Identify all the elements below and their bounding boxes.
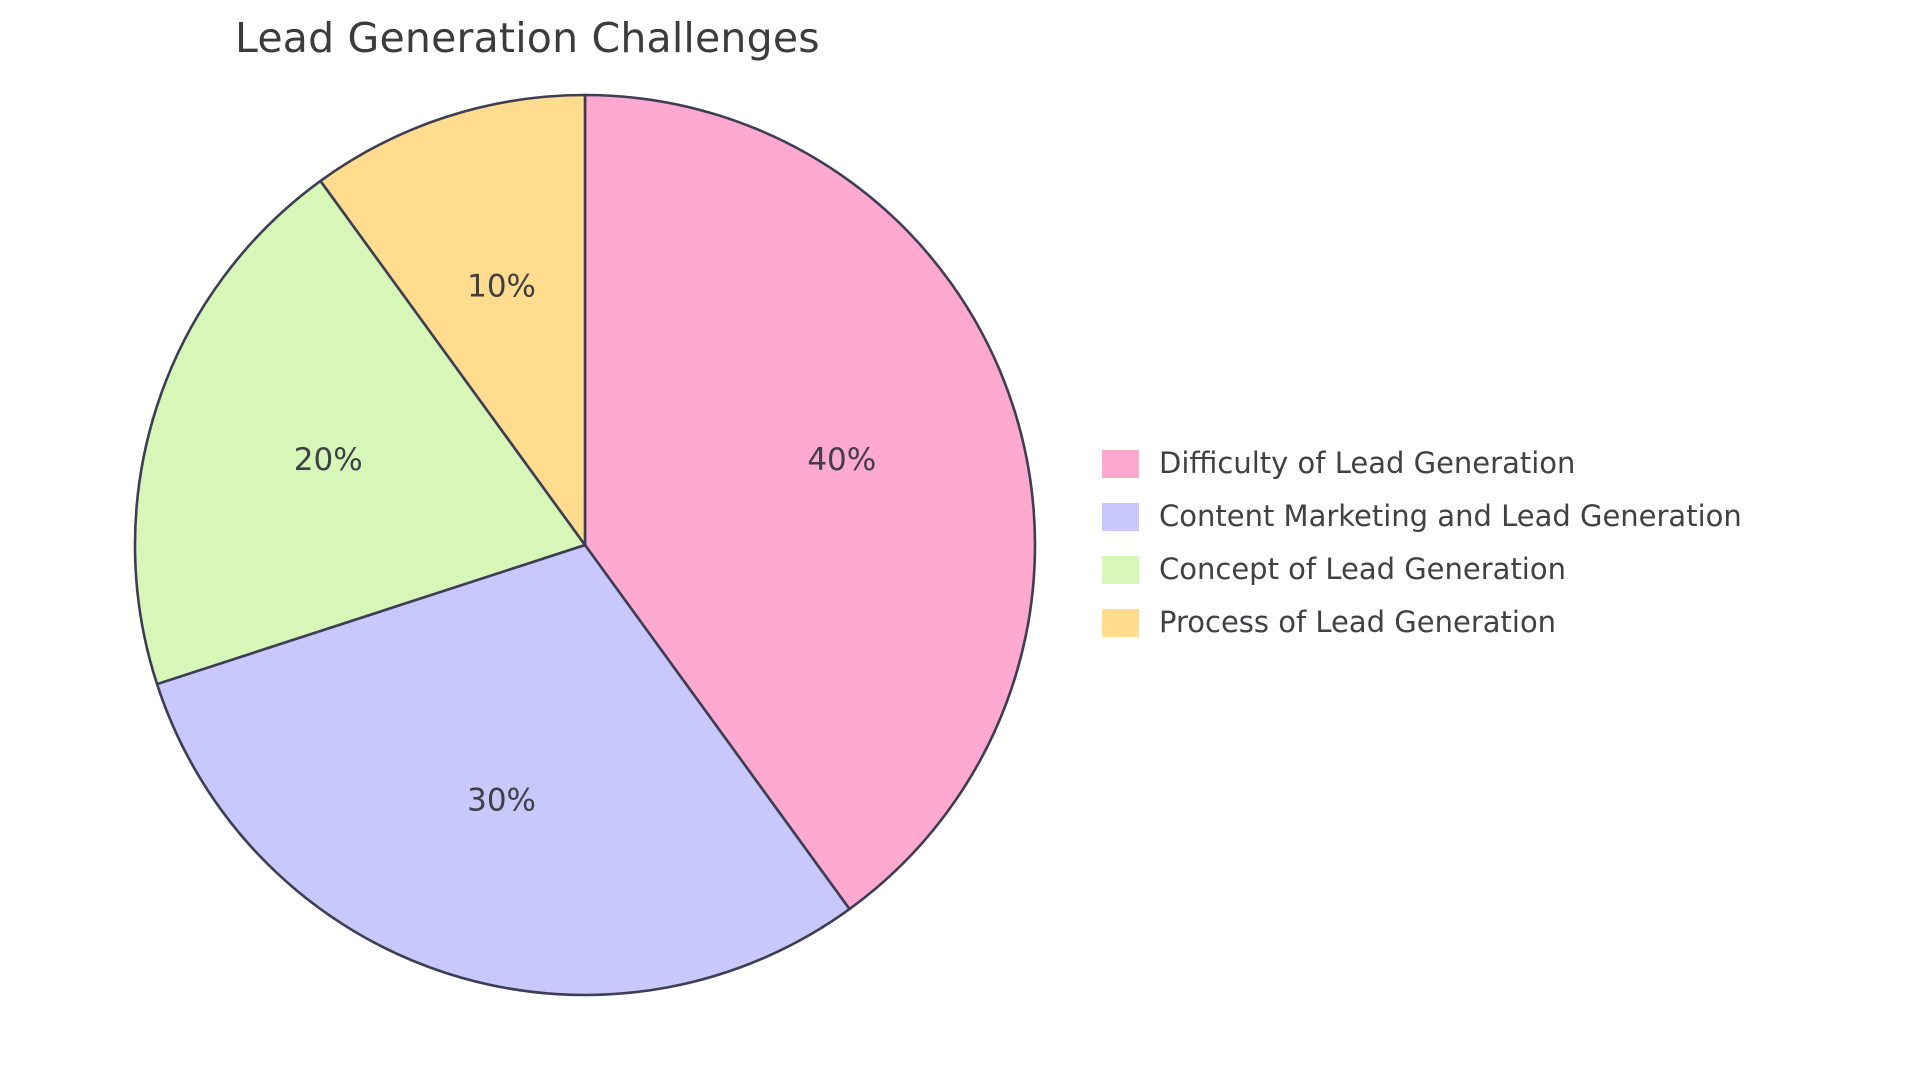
pie-slice-value-label: 40% [807,442,876,478]
legend-item[interactable]: Process of Lead Generation [1102,596,1742,649]
legend-item-label: Difficulty of Lead Generation [1159,449,1575,478]
legend-item-label: Concept of Lead Generation [1159,555,1566,584]
pie-chart-figure: Lead Generation Challenges 40%30%20%10% … [0,0,1920,1080]
pie-chart-svg: 40%30%20%10% [0,0,1200,1080]
legend-item-label: Content Marketing and Lead Generation [1159,502,1742,531]
legend-item[interactable]: Difficulty of Lead Generation [1102,437,1742,490]
legend-item[interactable]: Content Marketing and Lead Generation [1102,490,1742,543]
legend-swatch-icon [1102,609,1139,637]
chart-legend: Difficulty of Lead GenerationContent Mar… [1102,437,1742,649]
pie-slice-value-label: 10% [467,269,536,305]
pie-slice-value-label: 20% [294,442,363,478]
pie-slice-value-label: 30% [467,782,536,818]
legend-item[interactable]: Concept of Lead Generation [1102,543,1742,596]
pie-slices-group [135,95,1035,995]
legend-swatch-icon [1102,450,1139,478]
legend-item-label: Process of Lead Generation [1159,608,1556,637]
legend-swatch-icon [1102,556,1139,584]
legend-swatch-icon [1102,503,1139,531]
